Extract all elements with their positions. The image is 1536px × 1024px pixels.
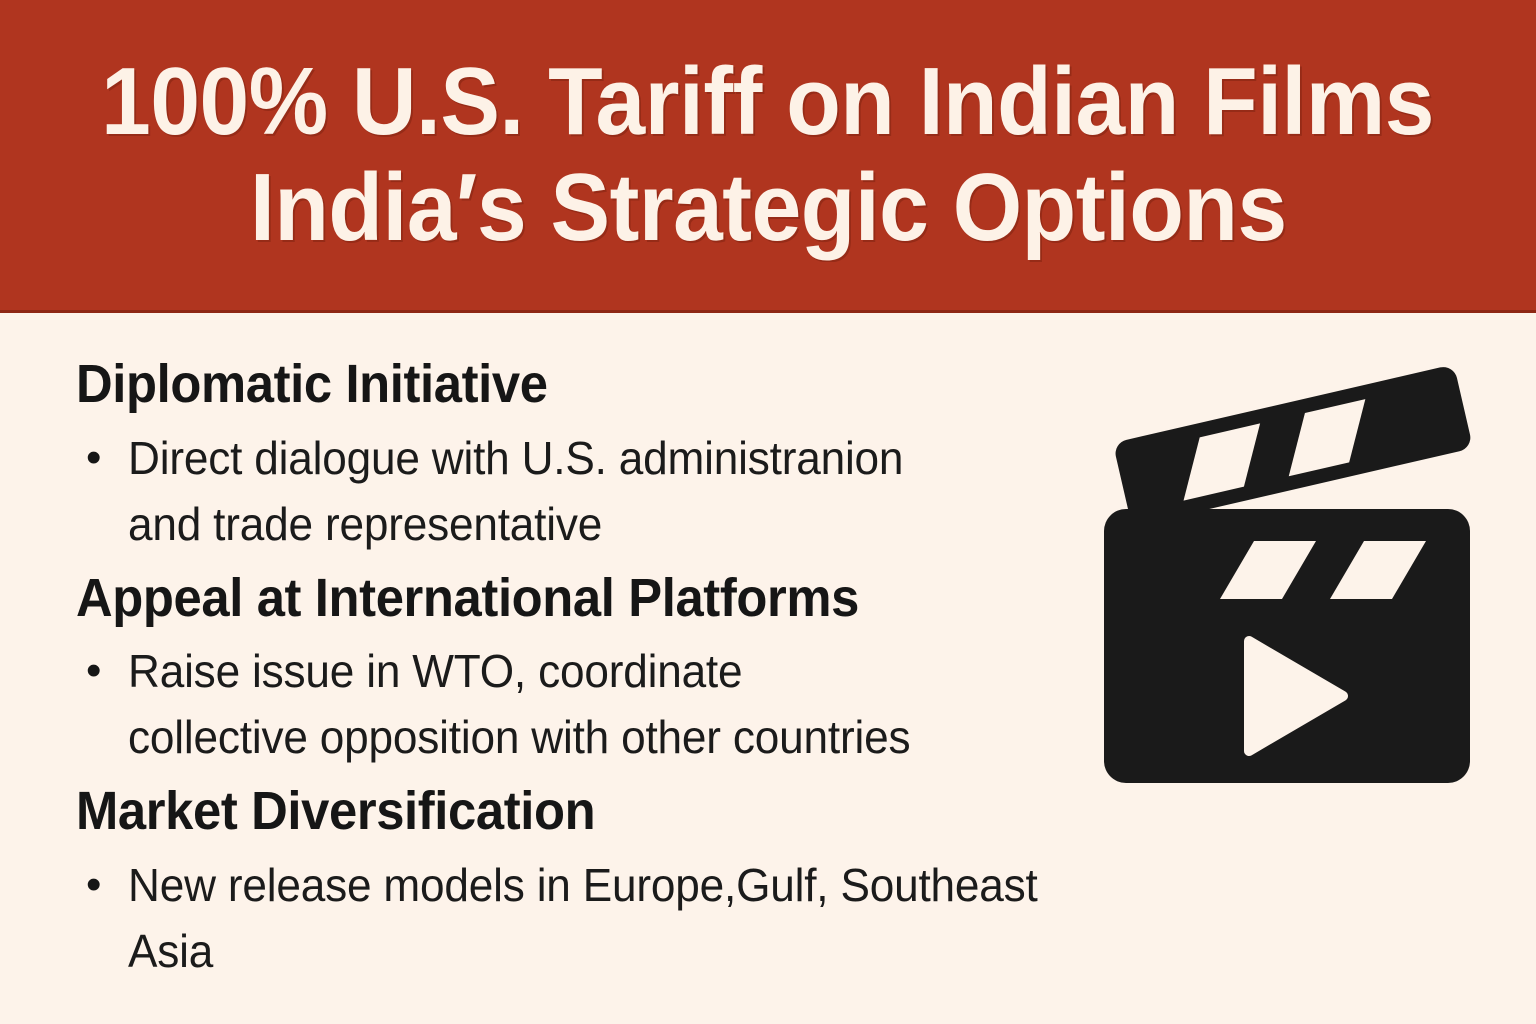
section-heading: Market Diversification: [76, 780, 1025, 844]
bullet-dot-icon: •: [76, 638, 128, 704]
body-area: Diplomatic Initiative • Direct dialogue …: [0, 313, 1536, 1024]
list-item-text: New release models in Europe,Gulf, South…: [128, 852, 1048, 984]
infographic-canvas: 100% U.S. Tariff on Indian Films India′s…: [0, 0, 1536, 1024]
clapperboard-svg: [1096, 341, 1486, 791]
section-diplomatic-initiative: Diplomatic Initiative • Direct dialogue …: [76, 353, 1086, 557]
list-item: • Direct dialogue with U.S. administrani…: [76, 425, 1086, 557]
section-appeal-international-platforms: Appeal at International Platforms • Rais…: [76, 567, 1086, 771]
list-item: • New release models in Europe,Gulf, Sou…: [76, 852, 1086, 984]
options-list: Diplomatic Initiative • Direct dialogue …: [76, 353, 1086, 994]
header-banner: 100% U.S. Tariff on Indian Films India′s…: [0, 0, 1536, 313]
list-item-text: Direct dialogue with U.S. administranion…: [128, 425, 903, 557]
list-item: • Raise issue in WTO, coordinate collect…: [76, 638, 1086, 770]
page-title-line-2: India′s Strategic Options: [250, 156, 1287, 260]
section-heading: Appeal at International Platforms: [76, 567, 1025, 631]
list-item-text: Raise issue in WTO, coordinate collectiv…: [128, 638, 910, 770]
section-market-diversification: Market Diversification • New release mod…: [76, 780, 1086, 984]
page-title-line-1: 100% U.S. Tariff on Indian Films: [102, 50, 1435, 154]
section-heading: Diplomatic Initiative: [76, 353, 1025, 417]
bullet-dot-icon: •: [76, 852, 128, 918]
bullet-dot-icon: •: [76, 425, 128, 491]
clapperboard-icon: [1096, 341, 1486, 791]
